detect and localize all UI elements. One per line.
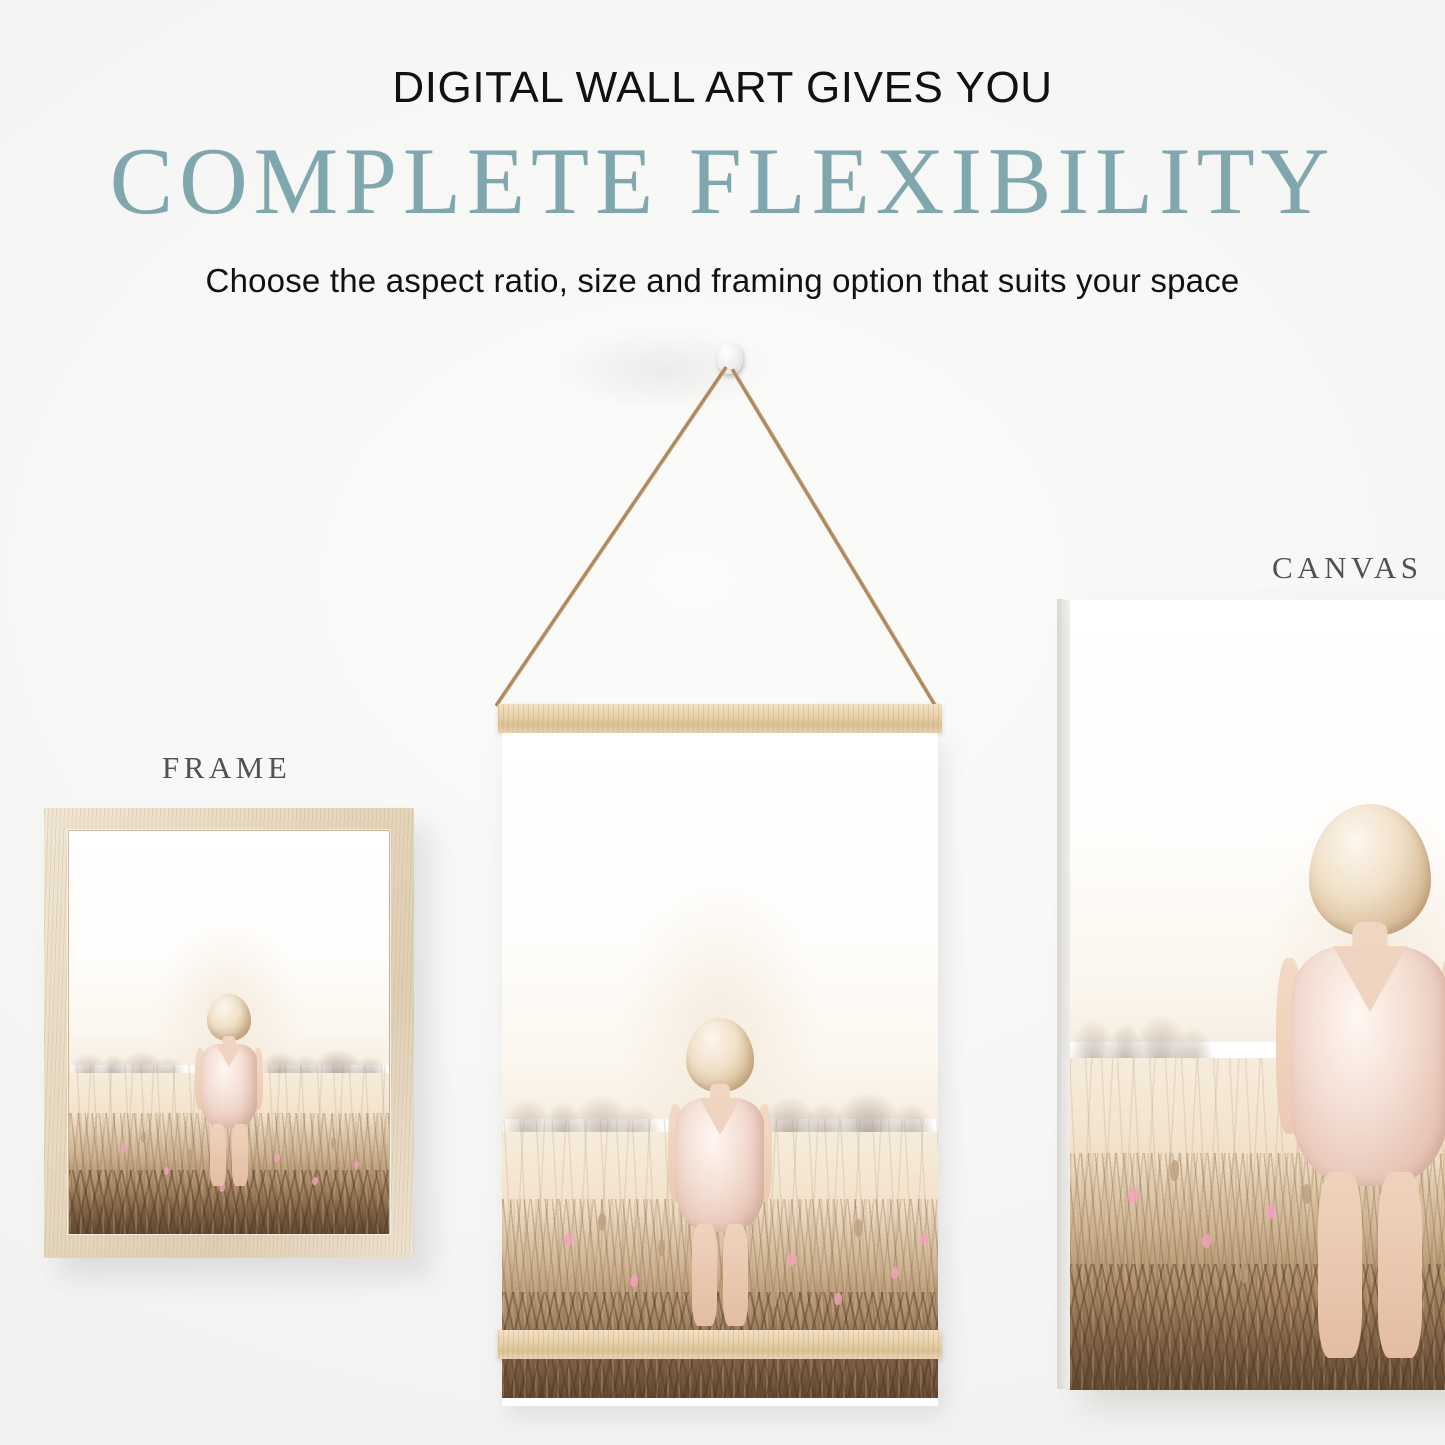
artwork-bud [1240,1264,1248,1283]
header: DIGITAL WALL ART GIVES YOU COMPLETE FLEX… [0,0,1445,300]
artwork-child-figure [658,1018,782,1338]
figure-romper [1292,946,1445,1186]
artwork-bud [1170,1160,1179,1181]
artwork-framed [69,831,389,1234]
figure-vneck [216,1044,242,1067]
frame-mockup[interactable] [44,808,414,1258]
figure-leg-right [232,1124,248,1186]
figure-hair [207,994,251,1041]
artwork-bud [598,1213,606,1231]
figure-leg-right [1378,1172,1422,1358]
artwork-canvas [1070,600,1445,1390]
figure-hair [1309,804,1431,936]
poster-hanger-mockup[interactable]: POSTER HANGER [440,330,1000,1390]
page-title: COMPLETE FLEXIBILITY [0,134,1445,229]
frame-label: FRAME [162,750,291,786]
artwork-bud [854,1219,862,1237]
artwork-child-figure [188,994,270,1194]
figure-leg-left [692,1224,717,1326]
artwork-bud [331,1137,336,1149]
canvas-mockup[interactable] [1070,600,1445,1390]
header-kicker: DIGITAL WALL ART GIVES YOU [0,66,1445,110]
figure-leg-right [723,1224,748,1326]
hanger-cord-right [731,368,940,711]
figure-leg-left [1318,1172,1362,1358]
hanger-rail-bottom [498,1330,942,1359]
figure-vneck [699,1098,741,1135]
poster-paper [502,733,938,1406]
artwork-poster [502,733,938,1398]
canvas-label: CANVAS [1272,550,1422,586]
figure-romper [201,1044,257,1128]
figure-vneck [1333,946,1407,1012]
figure-romper [676,1098,764,1232]
figure-hair [686,1018,754,1092]
artwork-bud [141,1131,146,1143]
mockup-canvas: DIGITAL WALL ART GIVES YOU COMPLETE FLEX… [0,0,1445,1445]
hanger-cord-left [494,366,728,707]
canvas-side-edge [1057,599,1070,1390]
hanger-rail-top [498,704,942,733]
figure-leg-left [210,1124,226,1186]
artwork-child-figure [1260,804,1445,1374]
header-subtitle: Choose the aspect ratio, size and framin… [0,262,1445,300]
canvas-face [1070,600,1445,1390]
